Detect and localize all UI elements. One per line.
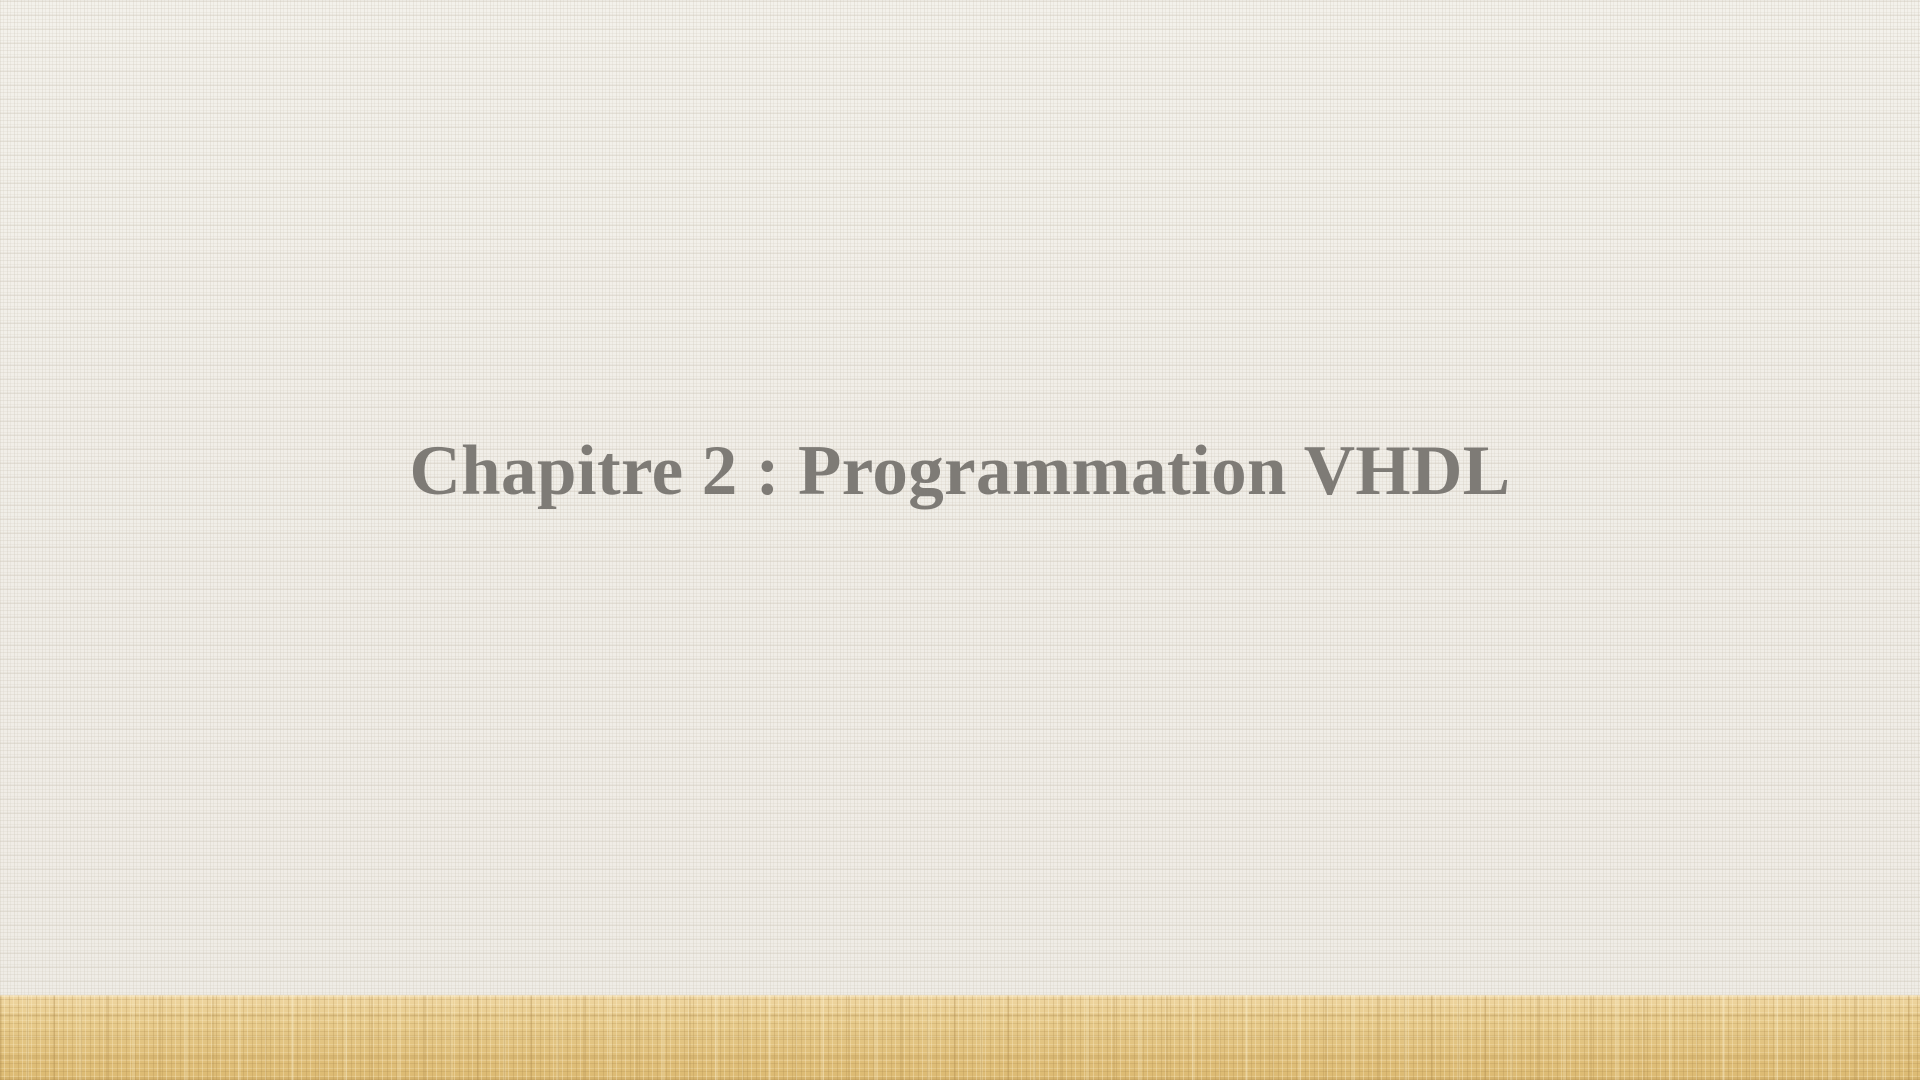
band-top-edge-highlight (0, 995, 1920, 997)
slide-background-texture (0, 0, 1920, 1080)
bottom-decorative-band (0, 995, 1920, 1080)
title-block: Chapitre 2 : Programmation VHDL (0, 416, 1920, 526)
presentation-slide: Chapitre 2 : Programmation VHDL (0, 0, 1920, 1080)
slide-title: Chapitre 2 : Programmation VHDL (409, 434, 1510, 509)
band-weave-texture (0, 995, 1920, 1080)
